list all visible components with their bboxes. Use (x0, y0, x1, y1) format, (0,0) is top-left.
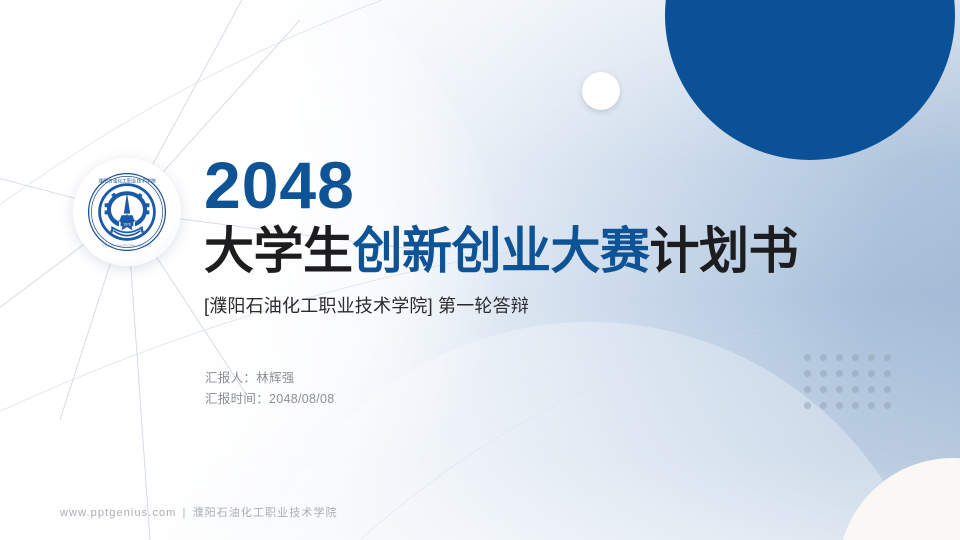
svg-text:PUYANG VOCATIONAL COLLEGE: PUYANG VOCATIONAL COLLEGE (103, 243, 152, 247)
footer-organization: 濮阳石油化工职业技术学院 (193, 507, 338, 519)
subtitle: [濮阳石油化工职业技术学院] 第一轮答辩 (204, 294, 864, 318)
university-logo: 濮阳石油化工职业技术学院 PUYANG VOCATIONAL COLLEGE (73, 158, 181, 266)
title-segment-highlight: 创新创业大赛 (353, 223, 650, 279)
footer-separator: | (183, 507, 187, 519)
presentation-slide: 濮阳石油化工职业技术学院 PUYANG VOCATIONAL COLLEGE (0, 0, 960, 540)
title-block: 2048 大学生创新创业大赛计划书 [濮阳石油化工职业技术学院] 第一轮答辩 (204, 150, 864, 318)
presenter-line: 汇报人：林辉强 (205, 368, 335, 389)
page-title: 大学生创新创业大赛计划书 (204, 222, 864, 280)
dot-grid-decoration (804, 354, 900, 418)
date-line: 汇报时间：2048/08/08 (205, 389, 335, 410)
title-segment-2: 计划书 (650, 223, 799, 279)
footer-website: www.pptgenius.com (60, 507, 177, 519)
background-circle-white-accent (582, 72, 620, 110)
slide-footer: www.pptgenius.com|濮阳石油化工职业技术学院 (60, 504, 338, 520)
presentation-meta: 汇报人：林辉强 汇报时间：2048/08/08 (205, 368, 335, 410)
year-heading: 2048 (204, 150, 864, 220)
svg-text:1978: 1978 (123, 222, 131, 226)
title-segment-1: 大学生 (204, 223, 353, 279)
university-emblem-icon: 濮阳石油化工职业技术学院 PUYANG VOCATIONAL COLLEGE (87, 172, 167, 252)
